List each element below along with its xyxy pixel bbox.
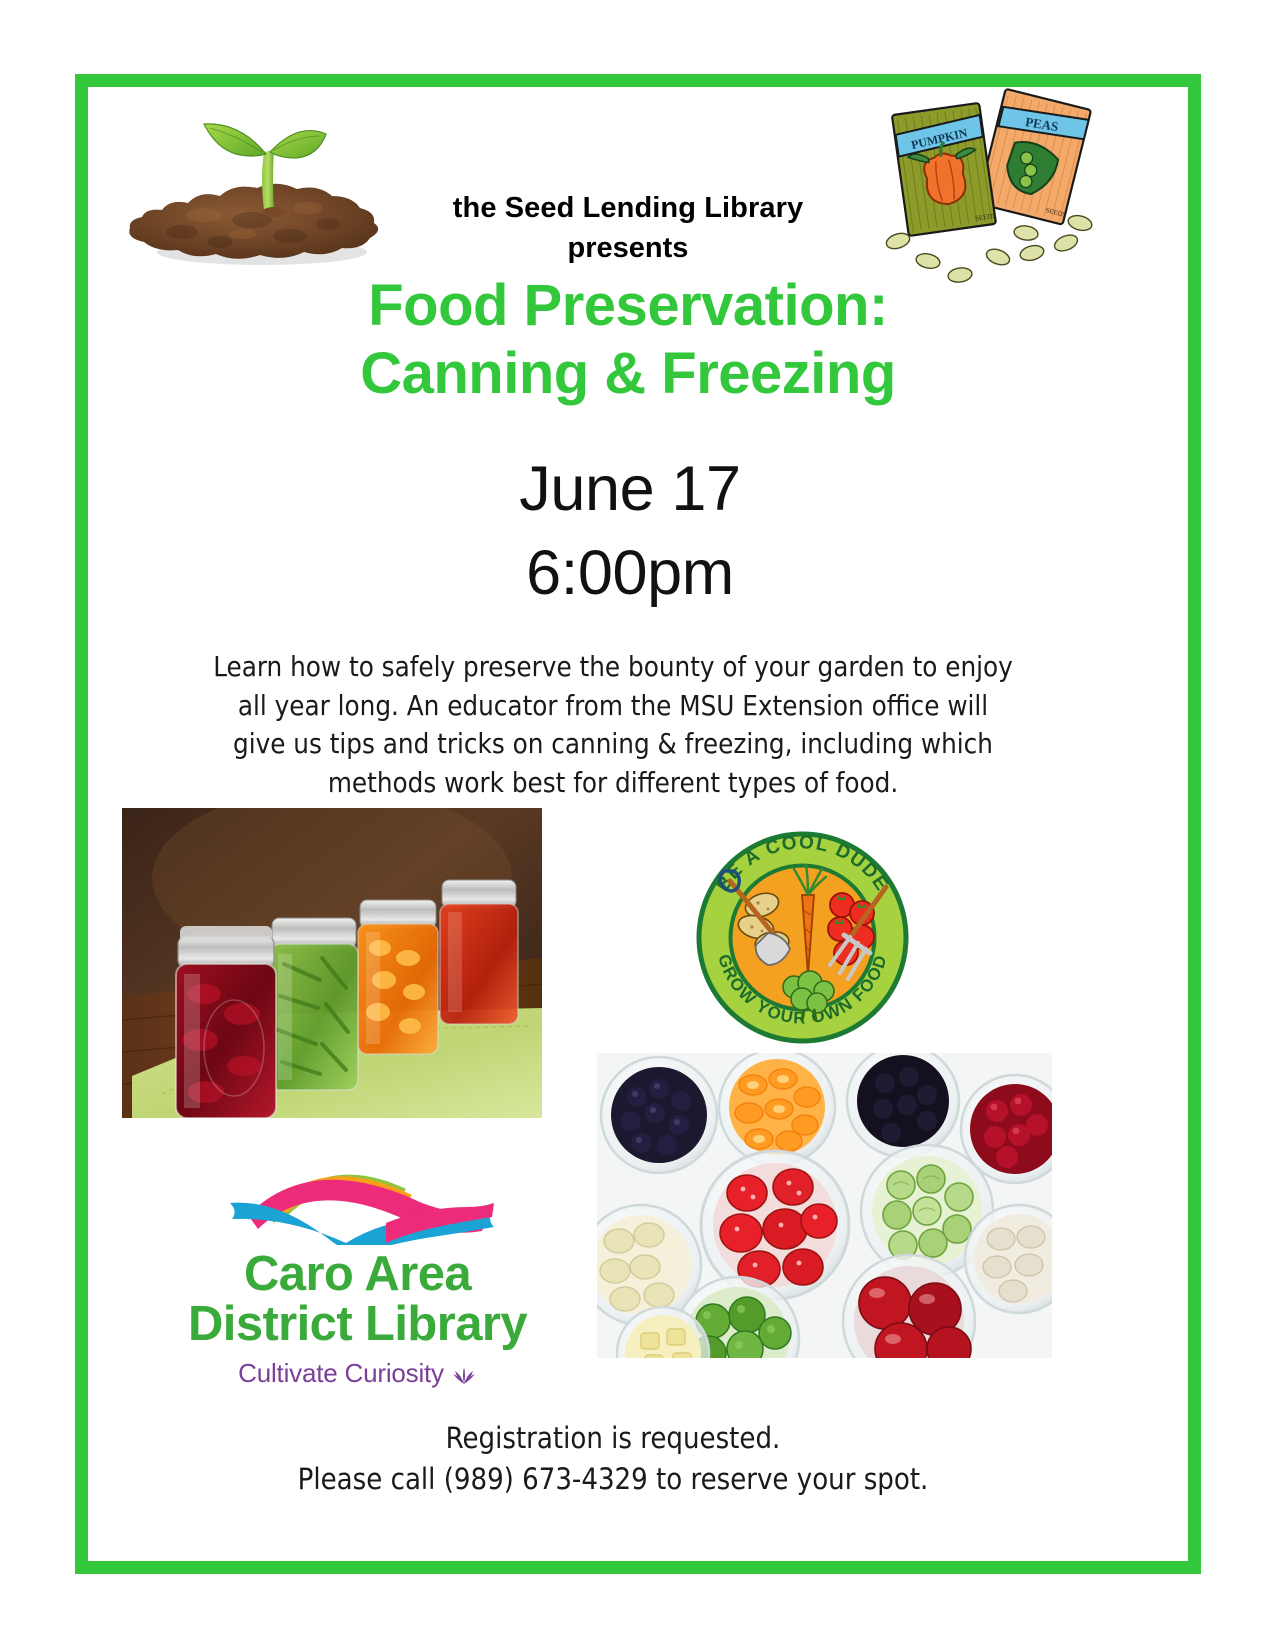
event-time: 6:00pm bbox=[300, 532, 960, 616]
be-a-cool-dude-badge-icon: BE A COOL DUDE GROW YOUR OWN FOOD bbox=[690, 825, 915, 1050]
open-book-rainbow-icon bbox=[160, 1145, 555, 1245]
presenter-line-2: presents bbox=[318, 227, 938, 269]
library-name: Caro Area District Library bbox=[160, 1250, 555, 1350]
description-line-1: Learn how to safely preserve the bounty … bbox=[168, 648, 1058, 687]
frozen-fruits-vegetables-image bbox=[597, 1053, 1052, 1358]
canning-jars-photo bbox=[122, 808, 542, 1118]
event-description: Learn how to safely preserve the bounty … bbox=[168, 648, 1058, 802]
canned-vegetables-image bbox=[122, 808, 542, 1118]
registration-phone-line: Please call (989) 673-4329 to reserve yo… bbox=[168, 1459, 1058, 1500]
library-tagline-text: Cultivate Curiosity bbox=[238, 1358, 444, 1388]
library-name-line-1: Caro Area bbox=[160, 1250, 555, 1300]
event-title: Food Preservation: Canning & Freezing bbox=[268, 272, 988, 409]
library-tagline: Cultivate Curiosity bbox=[160, 1358, 555, 1392]
registration-info: Registration is requested. Please call (… bbox=[168, 1418, 1058, 1500]
event-datetime: June 17 6:00pm bbox=[300, 448, 960, 616]
registration-line-1: Registration is requested. bbox=[168, 1418, 1058, 1459]
flyer-page: PEAS SEEDS bbox=[0, 0, 1275, 1650]
event-title-line-1: Food Preservation: bbox=[368, 273, 888, 338]
description-line-4: methods work best for different types of… bbox=[168, 764, 1058, 803]
description-line-2: all year long. An educator from the MSU … bbox=[168, 687, 1058, 726]
event-title-line-2: Canning & Freezing bbox=[268, 340, 988, 408]
frozen-produce-photo bbox=[597, 1053, 1052, 1358]
description-line-3: give us tips and tricks on canning & fre… bbox=[168, 725, 1058, 764]
library-name-line-2: District Library bbox=[160, 1300, 555, 1350]
event-date: June 17 bbox=[300, 448, 960, 532]
presenter-heading: the Seed Lending Library presents bbox=[318, 190, 938, 269]
sprout-leaf-icon bbox=[451, 1361, 477, 1392]
grow-your-own-food-badge: BE A COOL DUDE GROW YOUR OWN FOOD bbox=[690, 825, 915, 1050]
library-logo: Caro Area District Library Cultivate Cur… bbox=[160, 1145, 555, 1370]
presenter-line-1: the Seed Lending Library bbox=[318, 190, 938, 227]
